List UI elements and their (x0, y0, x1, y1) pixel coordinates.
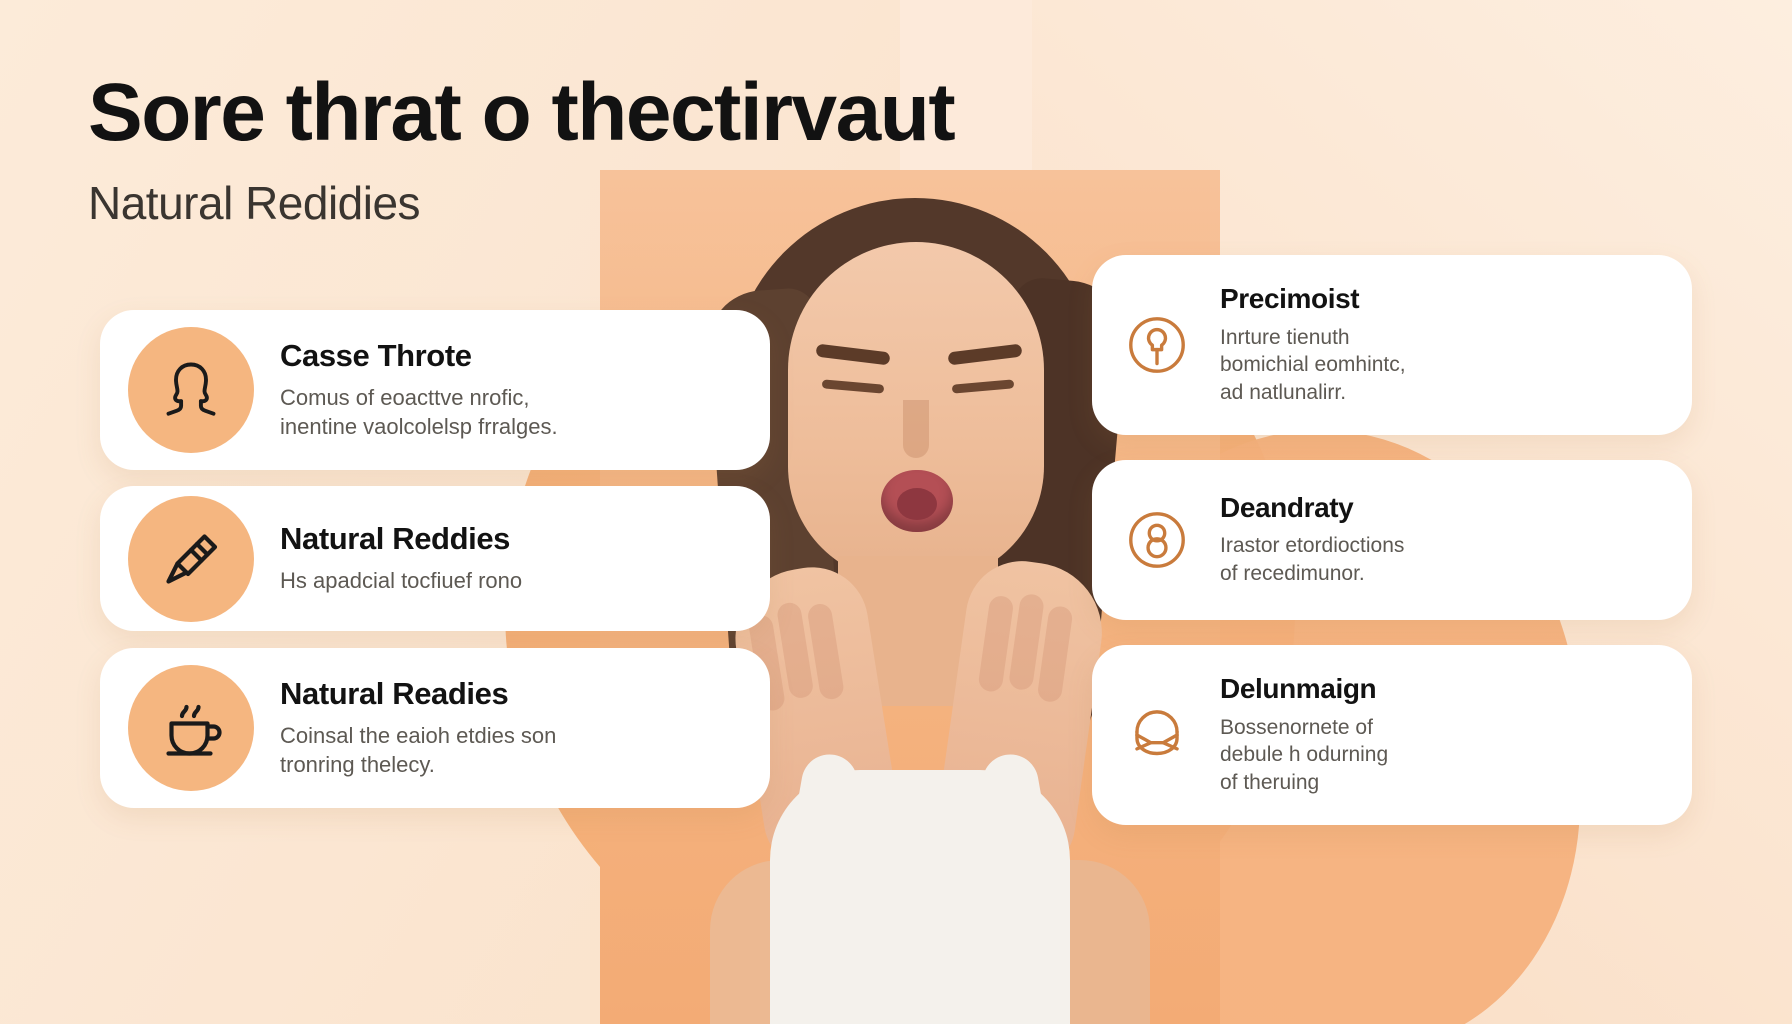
page-title: Sore thrat o thectirvaut (88, 72, 954, 154)
right-card-3-line-3: of theruing (1220, 769, 1664, 797)
left-card-2[interactable]: Natural Reddies Hs apadcial tocfiuef ron… (100, 486, 770, 631)
left-card-3-line-2: tronring thelecy. (280, 750, 740, 779)
header: Sore thrat o thectirvaut Natural Redidie… (88, 72, 954, 230)
mask-rest-icon (1120, 698, 1194, 772)
mouth-inner (897, 488, 937, 520)
left-card-2-body: Natural Reddies Hs apadcial tocfiuef ron… (280, 522, 740, 595)
nose (903, 400, 929, 458)
left-card-2-line-1: Hs apadcial tocfiuef rono (280, 566, 740, 595)
left-card-3-body: Natural Readies Coinsal the eaioh etdies… (280, 677, 740, 779)
right-card-3-line-2: debule h odurning (1220, 741, 1664, 769)
right-card-1-text: Inrture tienuth bomichial eomhintc, ad n… (1220, 324, 1664, 407)
right-card-1-title: Precimoist (1220, 283, 1664, 314)
left-card-3-title: Natural Readies (280, 677, 740, 712)
left-card-2-title: Natural Reddies (280, 522, 740, 557)
right-card-3-body: Delunmaign Bossenornete of debule h odur… (1220, 673, 1664, 797)
left-card-1-line-2: inentine vaolcolelsp frralges. (280, 412, 740, 441)
right-card-1-line-1: Inrture tienuth (1220, 324, 1664, 352)
finger (1037, 605, 1074, 703)
right-card-2-title: Deandraty (1220, 492, 1664, 523)
right-card-2-line-1: Irastor etordioctions (1220, 532, 1664, 560)
hourglass-icon (1120, 503, 1194, 577)
honey-dipper-icon (128, 496, 254, 622)
right-card-3-line-1: Bossenornete of (1220, 714, 1664, 742)
right-card-1-line-2: bomichial eomhintc, (1220, 351, 1664, 379)
right-card-3[interactable]: Delunmaign Bossenornete of debule h odur… (1092, 645, 1692, 825)
right-card-2-body: Deandraty Irastor etordioctions of reced… (1220, 492, 1664, 588)
right-card-1-line-3: ad natlunalirr. (1220, 379, 1664, 407)
left-card-3[interactable]: Natural Readies Coinsal the eaioh etdies… (100, 648, 770, 808)
right-card-1[interactable]: Precimoist Inrture tienuth bomichial eom… (1092, 255, 1692, 435)
right-card-1-body: Precimoist Inrture tienuth bomichial eom… (1220, 283, 1664, 407)
right-card-2-text: Irastor etordioctions of recedimunor. (1220, 532, 1664, 587)
tea-cup-icon (128, 665, 254, 791)
left-card-1-body: Casse Throte Comus of eoacttve nrofic, i… (280, 339, 740, 441)
page-subtitle: Natural Redidies (88, 176, 954, 230)
right-card-3-title: Delunmaign (1220, 673, 1664, 704)
right-card-2-line-2: of recedimunor. (1220, 560, 1664, 588)
left-card-1[interactable]: Casse Throte Comus of eoacttve nrofic, i… (100, 310, 770, 470)
left-card-1-line-1: Comus of eoacttve nrofic, (280, 383, 740, 412)
person-head-icon (128, 327, 254, 453)
white-tank-top (770, 770, 1070, 1024)
left-card-1-title: Casse Throte (280, 339, 740, 374)
right-card-3-text: Bossenornete of debule h odurning of the… (1220, 714, 1664, 797)
left-card-3-line-1: Coinsal the eaioh etdies son (280, 721, 740, 750)
infographic-poster: Sore thrat o thectirvaut Natural Redidie… (0, 0, 1792, 1024)
left-card-3-text: Coinsal the eaioh etdies son tronring th… (280, 721, 740, 779)
left-card-2-text: Hs apadcial tocfiuef rono (280, 566, 740, 595)
left-card-1-text: Comus of eoacttve nrofic, inentine vaolc… (280, 383, 740, 441)
lightbulb-icon (1120, 308, 1194, 382)
right-card-2[interactable]: Deandraty Irastor etordioctions of reced… (1092, 460, 1692, 620)
